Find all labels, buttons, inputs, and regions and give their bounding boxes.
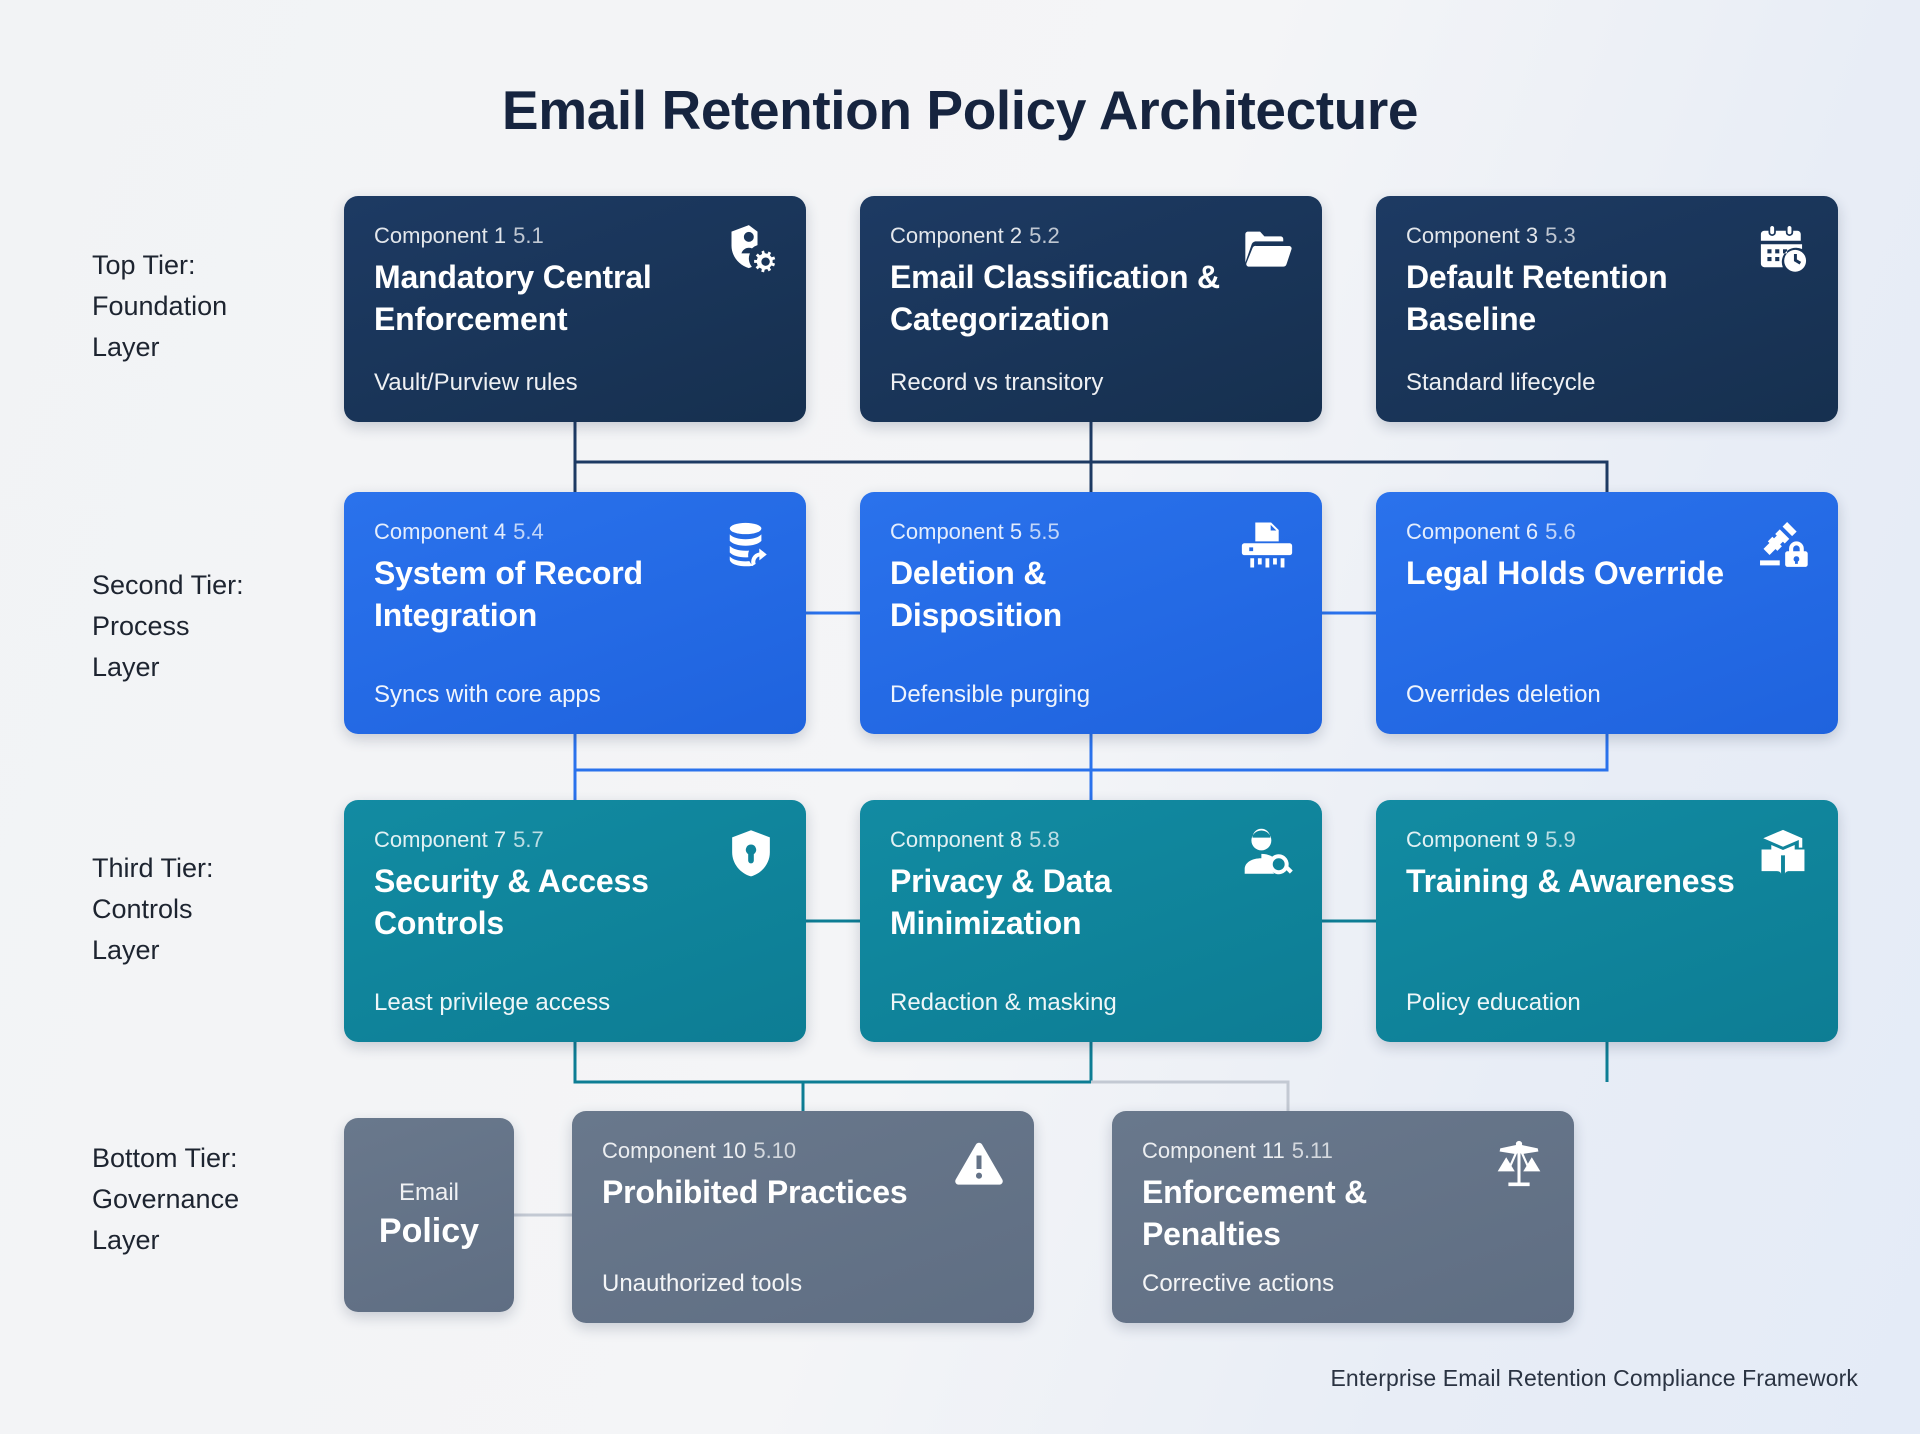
card-subtitle: Policy education <box>1406 987 1581 1018</box>
component-number: 5.1 <box>513 223 544 248</box>
component-number: 5.3 <box>1545 223 1576 248</box>
card-subtitle: Vault/Purview rules <box>374 367 578 398</box>
card-kicker: Component 15.1 <box>374 222 776 250</box>
shield-user-gear-icon <box>722 220 780 278</box>
card-component-9[interactable]: Component 95.9 Training & Awareness Poli… <box>1376 800 1838 1042</box>
card-component-3[interactable]: Component 35.3 Default Retention Baselin… <box>1376 196 1838 422</box>
component-label: Component 4 <box>374 519 506 544</box>
card-kicker: Component 115.11 <box>1142 1137 1544 1165</box>
component-number: 5.9 <box>1545 827 1576 852</box>
component-label: Component 1 <box>374 223 506 248</box>
card-kicker: Component 95.9 <box>1406 826 1808 854</box>
card-kicker: Component 55.5 <box>890 518 1292 546</box>
card-subtitle: Least privilege access <box>374 987 610 1018</box>
card-title: Enforcement & Penalties <box>1142 1171 1472 1255</box>
card-subtitle: Unauthorized tools <box>602 1268 802 1299</box>
card-component-8[interactable]: Component 85.8 Privacy & Data Minimizati… <box>860 800 1322 1042</box>
card-component-5[interactable]: Component 55.5 Deletion & Disposition De… <box>860 492 1322 734</box>
component-label: Component 10 <box>602 1138 746 1163</box>
incognito-user-search-icon <box>1238 824 1296 882</box>
page-title: Email Retention Policy Architecture <box>0 78 1920 142</box>
component-number: 5.8 <box>1029 827 1060 852</box>
component-label: Component 9 <box>1406 827 1538 852</box>
component-label: Component 8 <box>890 827 1022 852</box>
component-number: 5.11 <box>1292 1138 1333 1163</box>
card-component-6[interactable]: Component 65.6 Legal Holds Override Over… <box>1376 492 1838 734</box>
card-component-4[interactable]: Component 45.4 System of Record Integrat… <box>344 492 806 734</box>
footer-note: Enterprise Email Retention Compliance Fr… <box>1330 1365 1858 1392</box>
warning-triangle-icon <box>950 1135 1008 1193</box>
diagram-canvas: Email Retention Policy Architecture <box>0 0 1920 1434</box>
card-subtitle: Redaction & masking <box>890 987 1117 1018</box>
graduation-book-icon <box>1754 824 1812 882</box>
card-subtitle: Record vs transitory <box>890 367 1103 398</box>
policy-title: Policy <box>379 1209 479 1253</box>
database-arrow-icon <box>722 516 780 574</box>
component-label: Component 6 <box>1406 519 1538 544</box>
card-title: System of Record Integration <box>374 552 704 636</box>
shield-keyhole-icon <box>722 824 780 882</box>
card-kicker: Component 75.7 <box>374 826 776 854</box>
card-title: Legal Holds Override <box>1406 552 1736 594</box>
component-label: Component 11 <box>1142 1138 1285 1163</box>
card-subtitle: Standard lifecycle <box>1406 367 1595 398</box>
card-kicker: Component 35.3 <box>1406 222 1808 250</box>
card-kicker: Component 105.10 <box>602 1137 1004 1165</box>
component-number: 5.4 <box>513 519 544 544</box>
card-kicker: Component 85.8 <box>890 826 1292 854</box>
paper-shredder-icon <box>1238 516 1296 574</box>
component-number: 5.5 <box>1029 519 1060 544</box>
component-number: 5.7 <box>513 827 544 852</box>
component-label: Component 3 <box>1406 223 1538 248</box>
card-kicker: Component 65.6 <box>1406 518 1808 546</box>
card-title: Security & Access Controls <box>374 860 704 944</box>
card-title: Prohibited Practices <box>602 1171 932 1213</box>
policy-kicker: Email <box>399 1177 459 1209</box>
component-label: Component 5 <box>890 519 1022 544</box>
card-component-11[interactable]: Component 115.11 Enforcement & Penalties… <box>1112 1111 1574 1323</box>
card-title: Email Classification & Categorization <box>890 256 1220 340</box>
card-subtitle: Syncs with core apps <box>374 679 601 710</box>
card-subtitle: Overrides deletion <box>1406 679 1601 710</box>
card-kicker: Component 45.4 <box>374 518 776 546</box>
scales-justice-icon <box>1490 1135 1548 1193</box>
component-number: 5.2 <box>1029 223 1060 248</box>
component-label: Component 2 <box>890 223 1022 248</box>
gavel-lock-icon <box>1754 516 1812 574</box>
card-subtitle: Defensible purging <box>890 679 1090 710</box>
card-title: Deletion & Disposition <box>890 552 1220 636</box>
card-title: Default Retention Baseline <box>1406 256 1736 340</box>
card-component-2[interactable]: Component 25.2 Email Classification & Ca… <box>860 196 1322 422</box>
card-component-10[interactable]: Component 105.10 Prohibited Practices Un… <box>572 1111 1034 1323</box>
card-title: Training & Awareness <box>1406 860 1736 902</box>
card-title: Privacy & Data Minimization <box>890 860 1220 944</box>
calendar-clock-icon <box>1754 220 1812 278</box>
component-number: 5.10 <box>753 1138 796 1163</box>
component-number: 5.6 <box>1545 519 1576 544</box>
component-label: Component 7 <box>374 827 506 852</box>
card-kicker: Component 25.2 <box>890 222 1292 250</box>
card-component-1[interactable]: Component 15.1 Mandatory Central Enforce… <box>344 196 806 422</box>
card-email-policy[interactable]: Email Policy <box>344 1118 514 1312</box>
open-folder-icon <box>1238 220 1296 278</box>
card-component-7[interactable]: Component 75.7 Security & Access Control… <box>344 800 806 1042</box>
card-subtitle: Corrective actions <box>1142 1268 1334 1299</box>
card-title: Mandatory Central Enforcement <box>374 256 704 340</box>
